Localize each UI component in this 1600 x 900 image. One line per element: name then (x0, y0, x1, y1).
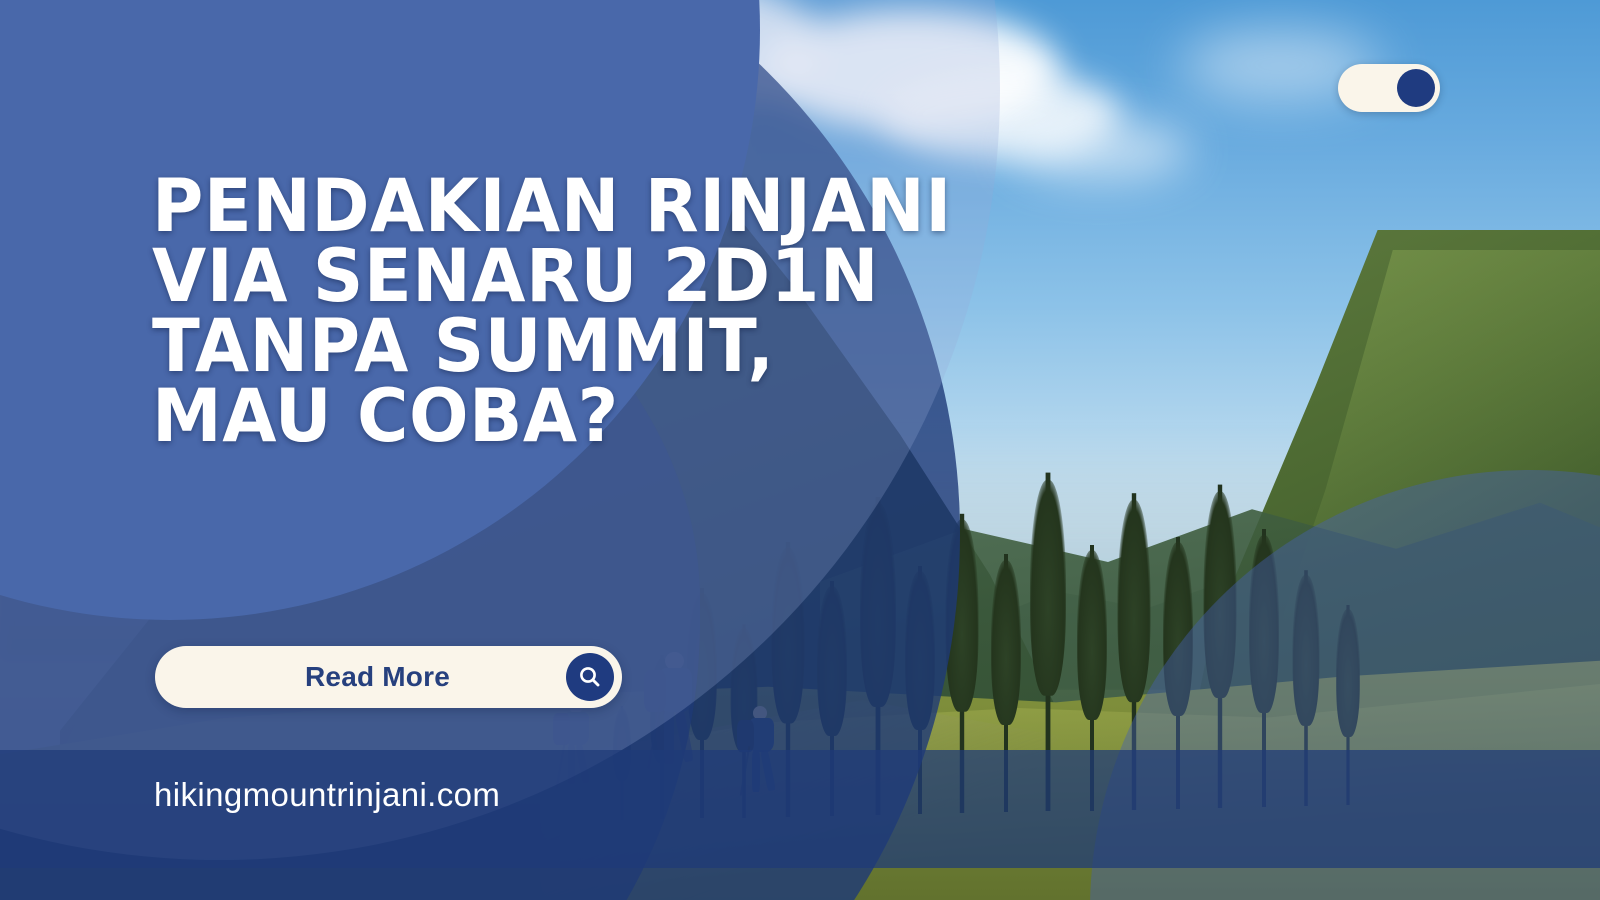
search-icon[interactable] (566, 653, 614, 701)
page-title: Pendakian Rinjani Via Senaru 2D1N Tanpa … (152, 172, 1016, 452)
headline-line-4: Mau Coba? (152, 382, 1016, 452)
toggle-switch-icon[interactable] (1338, 64, 1440, 112)
read-more-label: Read More (155, 661, 566, 693)
headline-line-2: Via Senaru 2D1N (152, 242, 1016, 312)
site-url[interactable]: hikingmountrinjani.com (154, 776, 500, 814)
content-layer: Pendakian Rinjani Via Senaru 2D1N Tanpa … (0, 0, 1600, 900)
headline-line-1: Pendakian Rinjani (152, 172, 1016, 242)
promo-banner: Pendakian Rinjani Via Senaru 2D1N Tanpa … (0, 0, 1600, 900)
toggle-knob[interactable] (1397, 69, 1435, 107)
read-more-button[interactable]: Read More (155, 646, 622, 708)
headline-line-3: Tanpa Summit, (152, 312, 1016, 382)
